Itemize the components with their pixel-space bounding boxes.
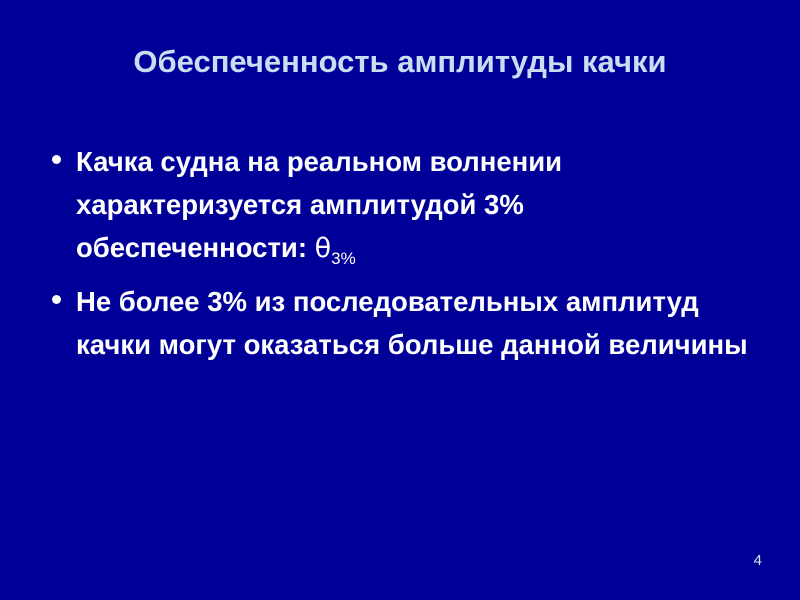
- slide-canvas: Обеспеченность амплитуды качки Качка суд…: [0, 0, 800, 600]
- list-item: Не более 3% из последовательных амплитуд…: [44, 280, 760, 366]
- list-item-text: Качка судна на реальном волнении характе…: [76, 140, 760, 280]
- theta-symbol: θ: [315, 233, 332, 264]
- slide-title: Обеспеченность амплитуды качки: [40, 44, 760, 80]
- list-item-text: Не более 3% из последовательных амплитуд…: [76, 280, 760, 366]
- theta-subscript: 3%: [331, 249, 356, 268]
- page-number: 4: [754, 553, 762, 568]
- slide-body: Качка судна на реальном волнении характе…: [44, 140, 760, 366]
- list-item: Качка судна на реальном волнении характе…: [44, 140, 760, 280]
- bullet-dot-icon: [52, 295, 61, 304]
- bullet-dot-icon: [52, 155, 61, 164]
